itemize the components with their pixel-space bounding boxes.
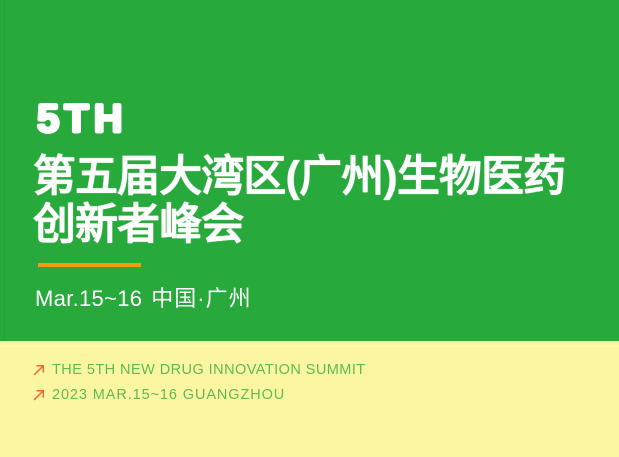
left-edge-seam xyxy=(4,0,5,341)
title-line-1: 第五届大湾区(广州)生物医药 xyxy=(33,153,597,201)
arrow-up-right-icon xyxy=(32,363,46,377)
footer-row-label: THE 5TH NEW DRUG INNOVATION SUMMIT xyxy=(52,361,366,379)
conference-poster: 5TH 第五届大湾区(广州)生物医药 创新者峰会 Mar.15~16中国·广州 … xyxy=(0,0,619,457)
arrow-up-right-icon xyxy=(32,388,46,402)
footer-row-label: 2023 MAR.15~16 GUANGZHOU xyxy=(52,386,285,404)
title-line-2: 创新者峰会 xyxy=(33,201,597,249)
accent-rule xyxy=(38,263,141,267)
footer-panel-hairline xyxy=(0,346,619,347)
edition-eyebrow: 5TH xyxy=(37,97,128,141)
footer-row: 2023 MAR.15~16 GUANGZHOU xyxy=(32,382,592,407)
footer-row: THE 5TH NEW DRUG INNOVATION SUMMIT xyxy=(32,357,592,382)
footer-text-block: THE 5TH NEW DRUG INNOVATION SUMMIT 2023 … xyxy=(32,357,592,407)
date-location-line: Mar.15~16中国·广州 xyxy=(35,284,252,314)
event-date: Mar.15~16 xyxy=(35,286,142,311)
event-location: 中国·广州 xyxy=(151,286,251,311)
page-title: 第五届大湾区(广州)生物医药 创新者峰会 xyxy=(33,153,603,249)
